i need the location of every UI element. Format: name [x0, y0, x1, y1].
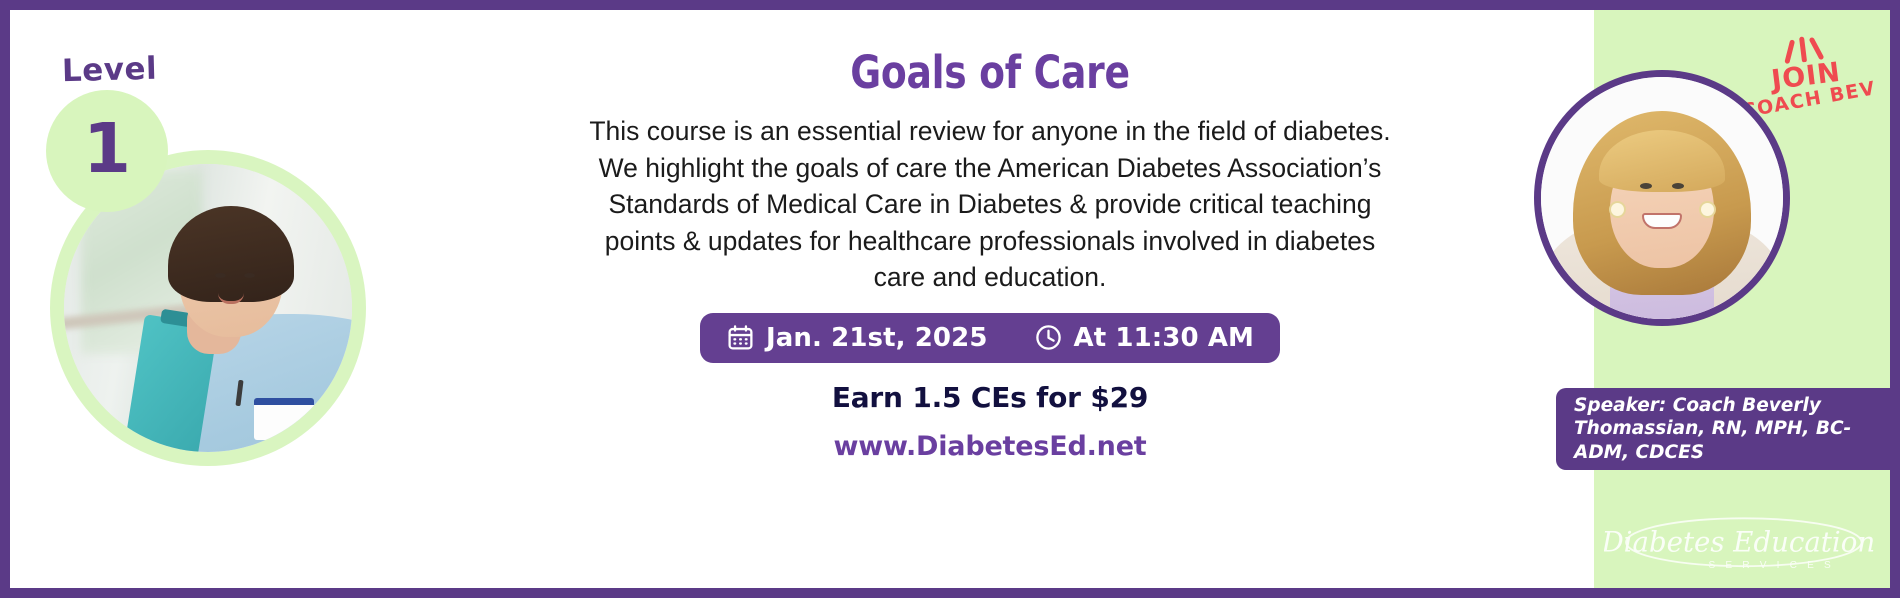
event-date: Jan. 21st, 2025	[766, 323, 988, 353]
course-promo-card: Level 1 Goals of Care	[0, 0, 1900, 598]
event-time: At 11:30 AM	[1074, 323, 1255, 353]
nurse-eye-left	[215, 273, 226, 278]
ce-credit-price: Earn 1.5 CEs for $29	[380, 381, 1600, 414]
speaker-smile	[1642, 213, 1682, 229]
brand-logo: Diabetes Education S E R V I C E S	[1604, 508, 1880, 582]
speaker-caption: Speaker: Coach Beverly Thomassian, RN, M…	[1556, 388, 1900, 470]
level-label: Level	[62, 51, 158, 89]
calendar-icon	[726, 323, 755, 352]
speaker-earring-left	[1611, 203, 1624, 216]
nurse-eye-right	[244, 273, 255, 278]
clock-icon	[1034, 323, 1063, 352]
level-badge: 1	[46, 90, 168, 212]
date-group: Jan. 21st, 2025	[726, 323, 988, 353]
center-column: Goals of Care This course is an essentia…	[380, 10, 1600, 588]
logo-sub-text: S E R V I C E S	[1708, 560, 1834, 571]
course-title: Goals of Care	[423, 46, 1558, 99]
time-group: At 11:30 AM	[1034, 323, 1255, 353]
logo-script-text: Diabetes Education	[1604, 525, 1875, 558]
level-number: 1	[46, 90, 168, 212]
speaker-caption-text: Speaker: Coach Beverly Thomassian, RN, M…	[1556, 394, 1900, 464]
speaker-photo	[1534, 70, 1790, 326]
left-column: Level 1	[10, 10, 380, 588]
website-link[interactable]: www.DiabetesEd.net	[833, 431, 1146, 462]
id-badge	[254, 398, 314, 440]
right-column: JOIN COACH BEV Speaker: Coach Beverly Th…	[1594, 10, 1890, 588]
diabetes-education-services-logo-icon: Diabetes Education S E R V I C E S	[1604, 508, 1880, 582]
course-description: This course is an essential review for a…	[580, 113, 1400, 296]
date-time-badge: Jan. 21st, 2025 At 11:30 AM	[700, 313, 1280, 363]
speaker-earring-right	[1701, 203, 1714, 216]
